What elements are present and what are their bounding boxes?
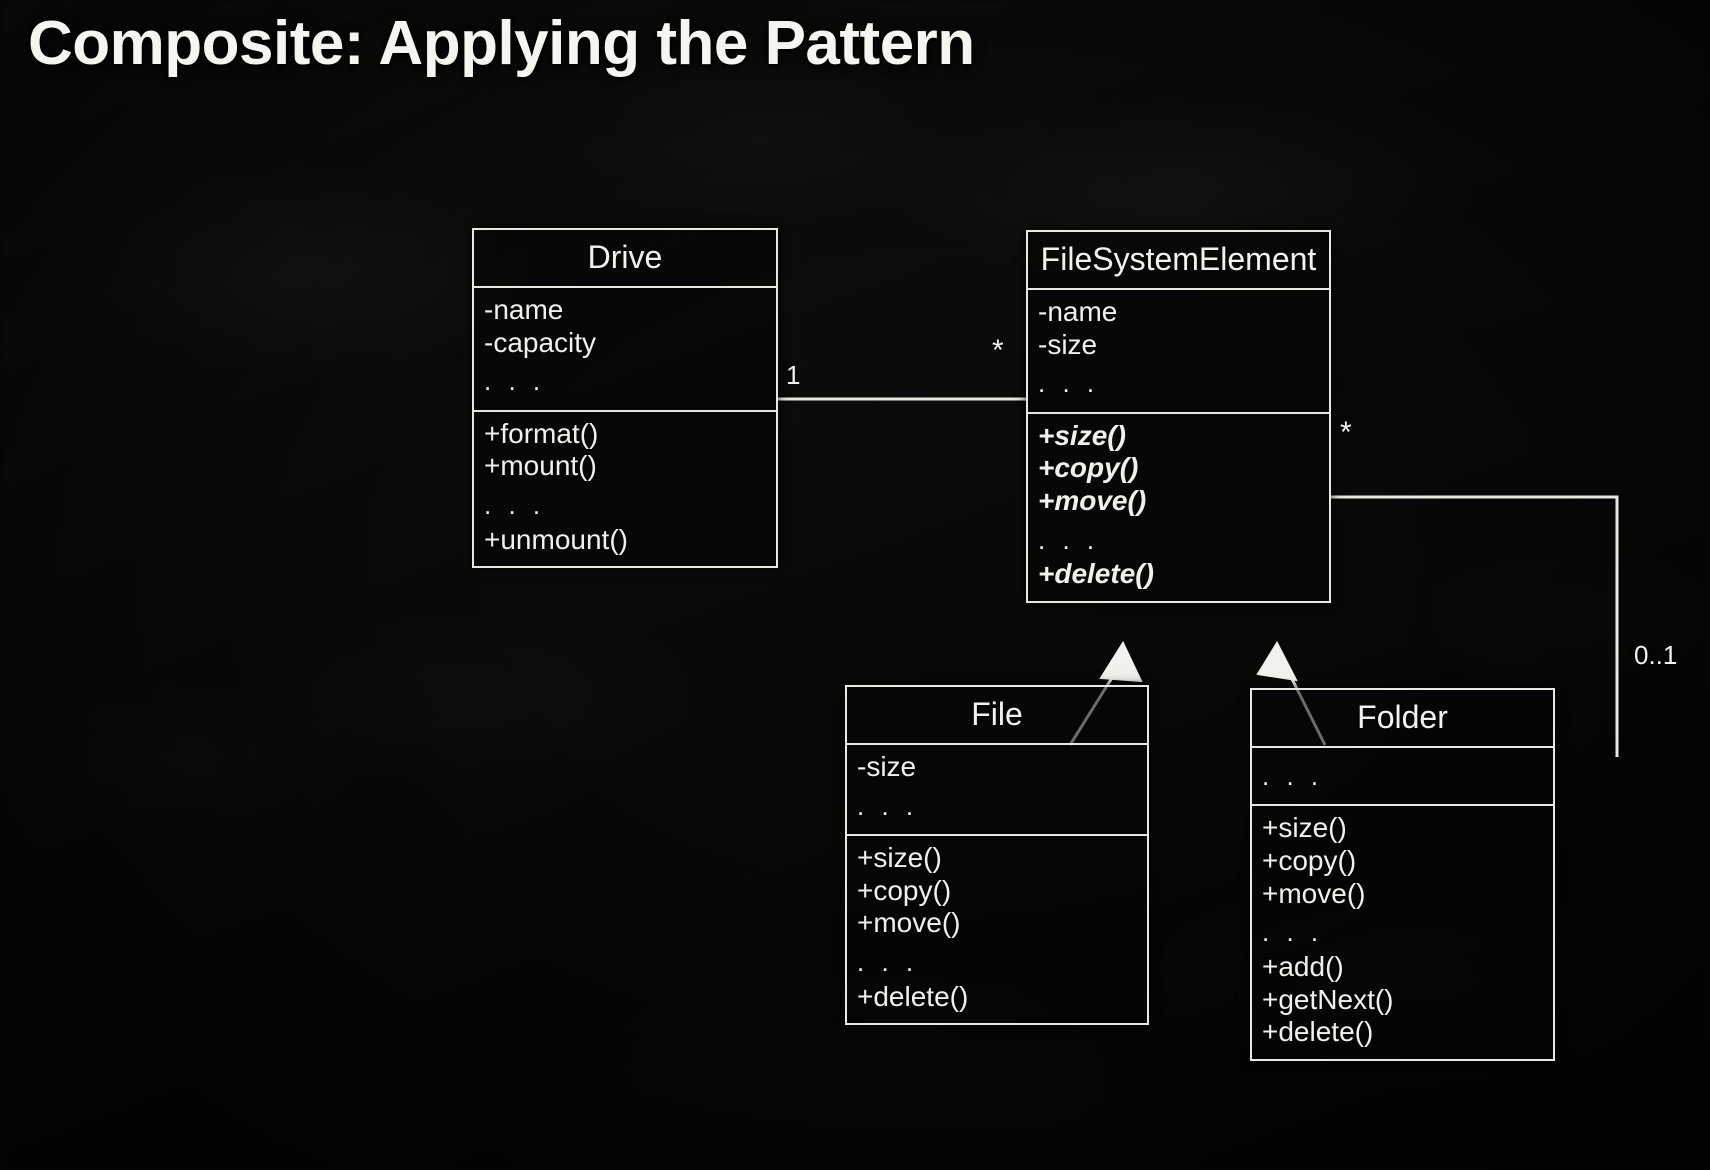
- operation-row: +add(): [1262, 951, 1553, 984]
- multiplicity-drive-end: 1: [786, 360, 800, 391]
- multiplicity-filesystemelement-end: *: [992, 336, 1004, 366]
- class-name-file: File: [847, 687, 1147, 745]
- class-attributes-filesystemelement: -name -size . . .: [1028, 290, 1329, 414]
- operation-row-ellipsis: . . .: [1038, 518, 1329, 558]
- class-operations-file: +size() +copy() +move() . . . +delete(): [847, 836, 1147, 1023]
- operation-row: +format(): [484, 418, 776, 451]
- attribute-row: -name: [484, 294, 776, 327]
- class-box-folder[interactable]: Folder . . . +size() +copy() +move() . .…: [1250, 688, 1555, 1061]
- class-attributes-file: -size . . .: [847, 745, 1147, 836]
- operation-row-ellipsis: . . .: [484, 483, 776, 523]
- operation-row-ellipsis: . . .: [857, 940, 1147, 980]
- operation-row: +delete(): [1038, 558, 1329, 591]
- class-operations-drive: +format() +mount() . . . +unmount(): [474, 412, 776, 567]
- operation-row: +size(): [1262, 812, 1553, 845]
- operation-row: +unmount(): [484, 524, 776, 557]
- multiplicity-folder-parent-end: 0..1: [1634, 640, 1677, 671]
- generalization-arrowhead-file: [1101, 643, 1141, 681]
- operation-row: +size(): [857, 842, 1147, 875]
- class-box-drive[interactable]: Drive -name -capacity . . . +format() +m…: [472, 228, 778, 568]
- attribute-row-ellipsis: . . .: [1262, 754, 1553, 794]
- attribute-row-ellipsis: . . .: [857, 784, 1147, 824]
- multiplicity-folder-children-end: *: [1340, 418, 1352, 448]
- operation-row: +move(): [1262, 878, 1553, 911]
- attribute-row-ellipsis: . . .: [484, 359, 776, 399]
- uml-class-diagram: 1 * * 0..1 Drive -name -capacity . . . +…: [0, 0, 1710, 1170]
- class-name-folder: Folder: [1252, 690, 1553, 748]
- class-operations-folder: +size() +copy() +move() . . . +add() +ge…: [1252, 806, 1553, 1059]
- operation-row: +delete(): [857, 981, 1147, 1014]
- operation-row: +size(): [1038, 420, 1329, 453]
- class-operations-filesystemelement: +size() +copy() +move() . . . +delete(): [1028, 414, 1329, 601]
- operation-row: +mount(): [484, 450, 776, 483]
- attribute-row: -size: [1038, 329, 1329, 362]
- class-attributes-drive: -name -capacity . . .: [474, 288, 776, 412]
- operation-row-ellipsis: . . .: [1262, 910, 1553, 950]
- class-box-file[interactable]: File -size . . . +size() +copy() +move()…: [845, 685, 1149, 1025]
- class-box-filesystemelement[interactable]: FileSystemElement -name -size . . . +siz…: [1026, 230, 1331, 603]
- generalization-arrowhead-folder: [1258, 643, 1296, 680]
- operation-row: +move(): [857, 907, 1147, 940]
- attribute-row: -capacity: [484, 327, 776, 360]
- operation-row: +delete(): [1262, 1016, 1553, 1049]
- attribute-row: -size: [857, 751, 1147, 784]
- operation-row: +copy(): [1262, 845, 1553, 878]
- attribute-row: -name: [1038, 296, 1329, 329]
- attribute-row-ellipsis: . . .: [1038, 361, 1329, 401]
- class-name-filesystemelement: FileSystemElement: [1028, 232, 1329, 290]
- operation-row: +copy(): [857, 875, 1147, 908]
- class-name-drive: Drive: [474, 230, 776, 288]
- operation-row: +copy(): [1038, 452, 1329, 485]
- class-attributes-folder: . . .: [1252, 748, 1553, 806]
- operation-row: +getNext(): [1262, 984, 1553, 1017]
- operation-row: +move(): [1038, 485, 1329, 518]
